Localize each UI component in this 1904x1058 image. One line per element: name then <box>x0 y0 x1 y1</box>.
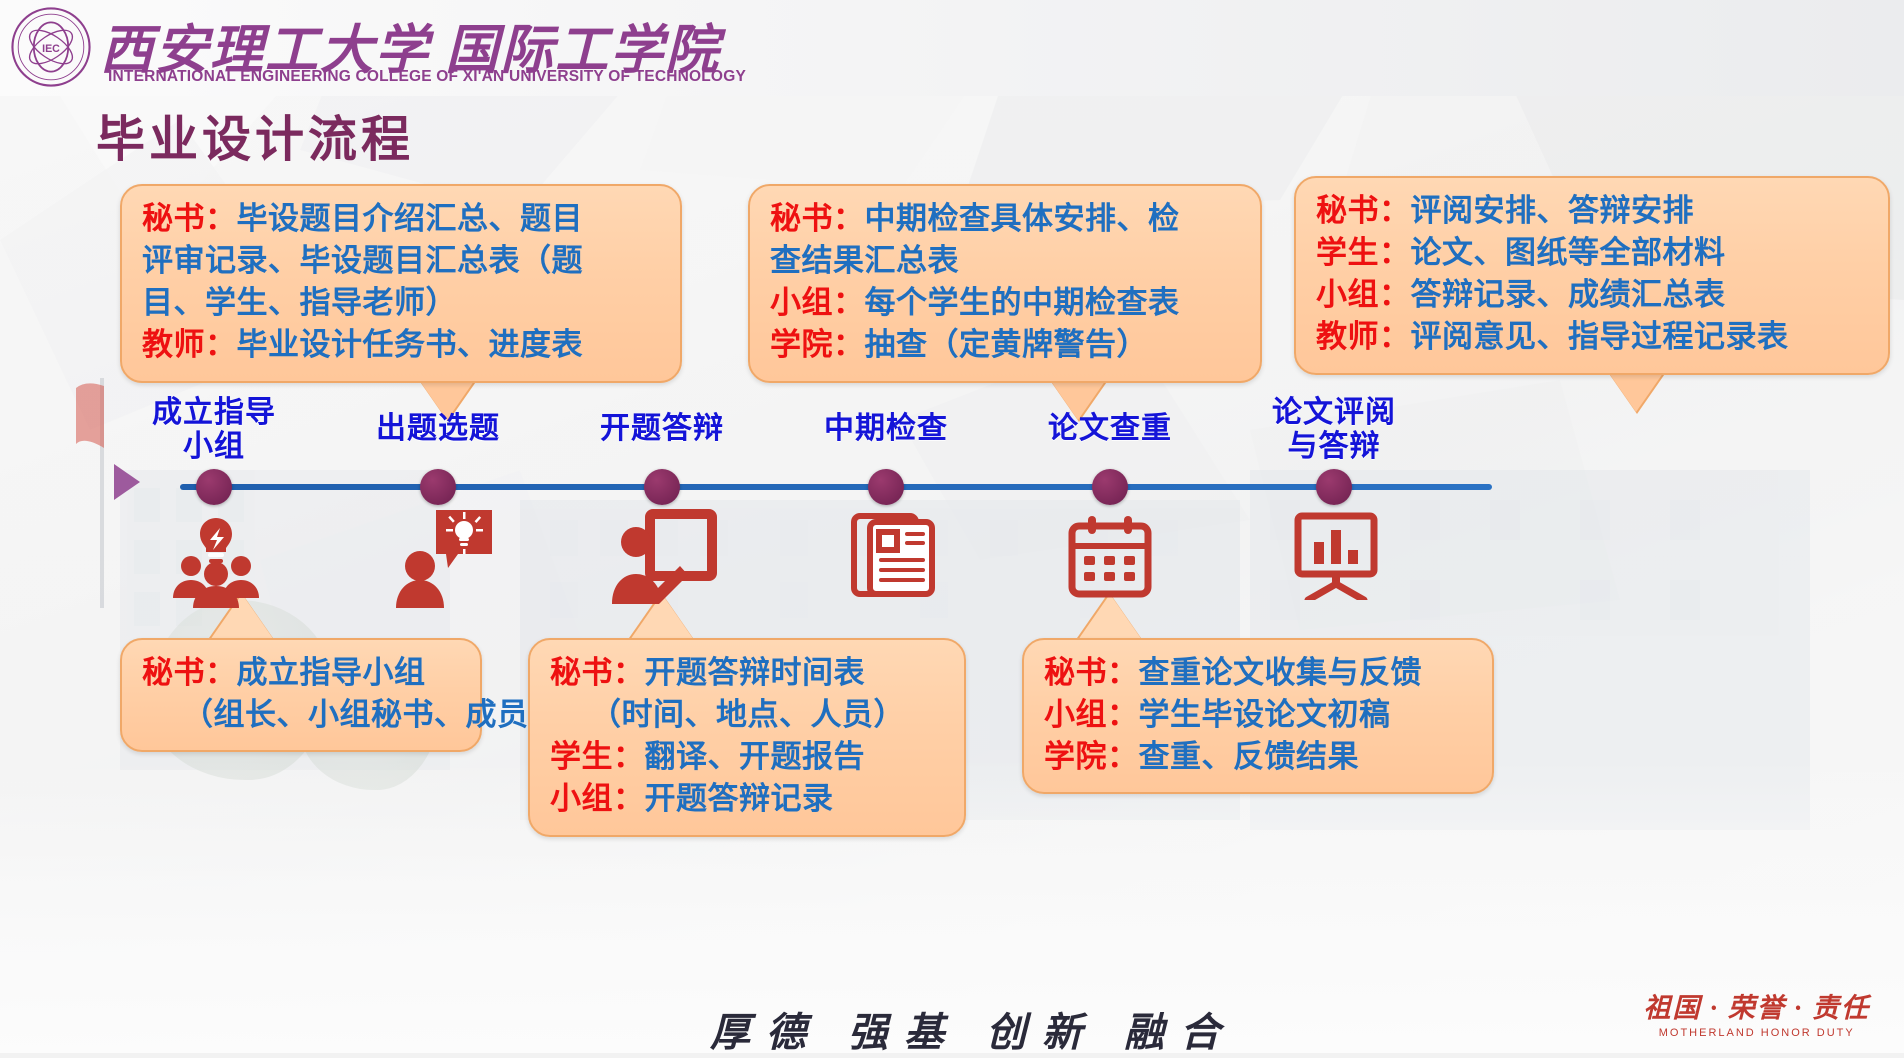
timeline-node-3[interactable] <box>868 469 904 505</box>
callout-line: 秘书：毕设题目介绍汇总、题目 <box>142 198 662 240</box>
callout-form-group: 秘书：成立指导小组 （组长、小组秘书、成员） <box>120 638 482 752</box>
callout-role: 小组： <box>1316 277 1411 312</box>
callout-text: 查结果汇总表 <box>770 243 959 278</box>
callout-text: 评阅意见、指导过程记录表 <box>1411 319 1789 354</box>
callout-role: 教师： <box>142 327 237 362</box>
callout-review-defense: 秘书：评阅安排、答辩安排 学生：论文、图纸等全部材料 小组：答辩记录、成绩汇总表… <box>1294 176 1890 375</box>
presenter-board-icon <box>608 508 718 609</box>
calendar-icon <box>1068 514 1152 603</box>
callout-role: 秘书： <box>550 655 645 690</box>
callout-role: 秘书： <box>142 201 237 236</box>
callout-plagiarism-check: 秘书：查重论文收集与反馈 小组：学生毕设论文初稿 学院：查重、反馈结果 <box>1022 638 1494 794</box>
callout-topic-selection: 秘书：毕设题目介绍汇总、题目 评审记录、毕设题目汇总表（题 目、学生、指导老师）… <box>120 184 682 383</box>
callout-role: 秘书： <box>1044 655 1139 690</box>
callout-proposal-defense: 秘书：开题答辩时间表 （时间、地点、人员） 学生：翻译、开题报告 小组：开题答辩… <box>528 638 966 837</box>
callout-line: 秘书：开题答辩时间表 <box>550 652 946 694</box>
team-idea-icon <box>168 514 264 615</box>
school-motto: 厚德 强基 创新 融合 <box>710 1000 1236 1058</box>
callout-role: 教师： <box>1316 319 1411 354</box>
callout-text: 评阅安排、答辩安排 <box>1411 193 1695 228</box>
callout-line: 目、学生、指导老师） <box>142 282 662 324</box>
timeline-node-2[interactable] <box>644 469 680 505</box>
callout-line: 学生：论文、图纸等全部材料 <box>1316 232 1870 274</box>
callout-line: 小组：答辩记录、成绩汇总表 <box>1316 274 1870 316</box>
motherland-honor-duty-seal: 祖国 · 荣誉 · 责任 MOTHERLAND HONOR DUTY <box>1644 986 1871 1039</box>
callout-role: 学院： <box>1044 739 1139 774</box>
callout-text: 开题答辩记录 <box>645 781 834 816</box>
callout-line: 小组：学生毕设论文初稿 <box>1044 694 1474 736</box>
callout-line: 秘书：成立指导小组 <box>142 652 462 694</box>
newspaper-report-icon <box>850 510 938 605</box>
seal-text-en: MOTHERLAND HONOR DUTY <box>1644 1027 1871 1039</box>
callout-text: 评审记录、毕设题目汇总表（题 <box>142 243 583 278</box>
timeline-axis <box>180 484 1492 490</box>
timeline-node-0[interactable] <box>196 469 232 505</box>
timeline-node-4[interactable] <box>1092 469 1128 505</box>
callout-text: （时间、地点、人员） <box>590 697 905 732</box>
callout-line: （时间、地点、人员） <box>550 694 946 736</box>
callout-role: 小组： <box>1044 697 1139 732</box>
callout-text: 毕业设计任务书、进度表 <box>237 327 584 362</box>
callout-line: 秘书：评阅安排、答辩安排 <box>1316 190 1870 232</box>
callout-role: 秘书： <box>1316 193 1411 228</box>
milestone-label-5: 论文评阅 与答辩 <box>1214 396 1454 463</box>
milestone-label-0: 成立指导 小组 <box>94 396 334 463</box>
callout-line: 教师：评阅意见、指导过程记录表 <box>1316 316 1870 358</box>
chart-easel-icon <box>1290 508 1382 605</box>
timeline-node-5[interactable] <box>1316 469 1352 505</box>
callout-role: 学生： <box>1316 235 1411 270</box>
callout-line: 评审记录、毕设题目汇总表（题 <box>142 240 662 282</box>
callout-role: 学生： <box>550 739 645 774</box>
svg-text:IEC: IEC <box>42 43 60 55</box>
person-idea-bubble-icon <box>396 508 496 613</box>
callout-role: 秘书： <box>770 201 865 236</box>
callout-text: 翻译、开题报告 <box>645 739 866 774</box>
callout-line: 小组：开题答辩记录 <box>550 778 946 820</box>
milestone-label-1: 出题选题 <box>318 412 558 446</box>
callout-text: 学生毕设论文初稿 <box>1139 697 1391 732</box>
callout-role: 秘书： <box>142 655 237 690</box>
play-triangle-icon <box>114 464 140 500</box>
callout-text: 毕设题目介绍汇总、题目 <box>237 201 584 236</box>
header-bar: IEC 西安理工大学 国际工学院 INTERNATIONAL ENGINEERI… <box>0 0 1904 96</box>
university-name-en: INTERNATIONAL ENGINEERING COLLEGE OF XI'… <box>108 68 746 86</box>
callout-text: 抽查（定黄牌警告） <box>865 327 1149 362</box>
callout-line: 小组：每个学生的中期检查表 <box>770 282 1242 324</box>
callout-line: （组长、小组秘书、成员） <box>142 694 462 736</box>
callout-line: 秘书：查重论文收集与反馈 <box>1044 652 1474 694</box>
university-crest-icon: IEC <box>10 6 92 88</box>
timeline-node-1[interactable] <box>420 469 456 505</box>
callout-text: 开题答辩时间表 <box>645 655 866 690</box>
seal-text-cn: 祖国 · 荣誉 · 责任 <box>1644 986 1871 1025</box>
callout-line: 学院：查重、反馈结果 <box>1044 736 1474 778</box>
callout-text: 中期检查具体安排、检 <box>865 201 1180 236</box>
callout-text: 论文、图纸等全部材料 <box>1411 235 1726 270</box>
callout-text: 查重、反馈结果 <box>1139 739 1360 774</box>
callout-text: 每个学生的中期检查表 <box>865 285 1180 320</box>
callout-line: 查结果汇总表 <box>770 240 1242 282</box>
callout-text: （组长、小组秘书、成员） <box>182 697 560 732</box>
callout-text: 成立指导小组 <box>237 655 426 690</box>
callout-role: 小组： <box>770 285 865 320</box>
callout-role: 小组： <box>550 781 645 816</box>
callout-line: 教师：毕业设计任务书、进度表 <box>142 324 662 366</box>
callout-midterm-check: 秘书：中期检查具体安排、检 查结果汇总表 小组：每个学生的中期检查表 学院：抽查… <box>748 184 1262 383</box>
callout-line: 秘书：中期检查具体安排、检 <box>770 198 1242 240</box>
callout-text: 目、学生、指导老师） <box>142 285 457 320</box>
callout-text: 答辩记录、成绩汇总表 <box>1411 277 1726 312</box>
milestone-label-2: 开题答辩 <box>542 412 782 446</box>
callout-role: 学院： <box>770 327 865 362</box>
milestone-label-3: 中期检查 <box>766 412 1006 446</box>
milestone-label-4: 论文查重 <box>990 412 1230 446</box>
page-title: 毕业设计流程 <box>96 100 414 171</box>
callout-text: 查重论文收集与反馈 <box>1139 655 1423 690</box>
callout-line: 学生：翻译、开题报告 <box>550 736 946 778</box>
callout-line: 学院：抽查（定黄牌警告） <box>770 324 1242 366</box>
